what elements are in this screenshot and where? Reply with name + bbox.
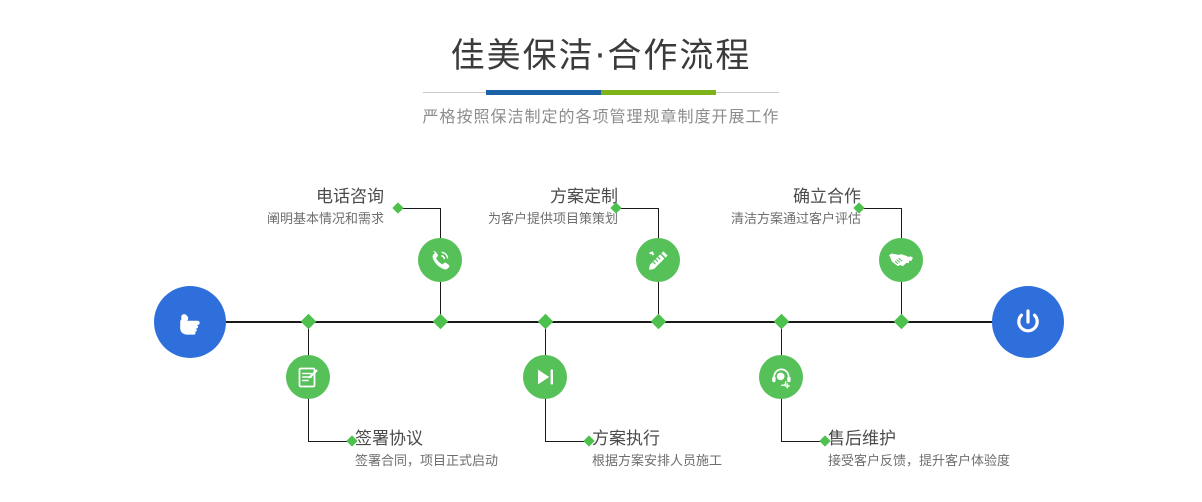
step-desc: 阐明基本情况和需求 <box>267 210 384 230</box>
support-headset-icon <box>769 365 794 390</box>
step-title: 签署协议 <box>355 428 498 450</box>
axis-marker-step-2 <box>301 314 317 330</box>
step-label-step-3: 方案定制 为客户提供项目策策划 <box>488 186 618 230</box>
pointing-hand-icon <box>170 302 210 342</box>
step-icon-step-4 <box>523 355 567 399</box>
step-label-step-6: 售后维护 接受客户反馈，提升客户体验度 <box>828 428 1010 472</box>
step-title: 方案定制 <box>488 186 618 208</box>
connector-h-step-4 <box>545 441 589 442</box>
step-title: 方案执行 <box>592 428 722 450</box>
step-desc: 为客户提供项目策策划 <box>488 210 618 230</box>
power-icon <box>1009 303 1047 341</box>
step-desc: 清洁方案通过客户评估 <box>731 210 861 230</box>
step-title: 售后维护 <box>828 428 1010 450</box>
connector-h-step-6 <box>781 441 825 442</box>
phone-call-icon <box>427 247 453 273</box>
step-label-step-5: 确立合作 清洁方案通过客户评估 <box>731 186 861 230</box>
timeline-end-endpoint <box>992 286 1064 358</box>
timeline-start-endpoint <box>154 286 226 358</box>
step-desc: 签署合同，项目正式启动 <box>355 452 498 472</box>
axis-marker-step-1 <box>433 314 449 330</box>
step-icon-step-3 <box>636 238 680 282</box>
process-timeline: 电话咨询 阐明基本情况和需求 签署协议 签署合同，项目正式启动 <box>0 0 1202 502</box>
step-desc: 接受客户反馈，提升客户体验度 <box>828 452 1010 472</box>
step-title: 电话咨询 <box>267 186 384 208</box>
step-icon-step-5 <box>879 238 923 282</box>
step-label-step-1: 电话咨询 阐明基本情况和需求 <box>267 186 384 230</box>
process-flow-page: 佳美保洁·合作流程 严格按照保洁制定的各项管理规章制度开展工作 <box>0 0 1202 502</box>
axis-marker-step-4 <box>538 314 554 330</box>
step-icon-step-6 <box>759 355 803 399</box>
pencil-ruler-icon <box>646 248 671 273</box>
connector-h-step-2 <box>308 441 352 442</box>
connector-h-step-1 <box>398 208 440 209</box>
connector-h-step-5 <box>859 208 901 209</box>
connector-tip-step-1 <box>392 202 403 213</box>
step-title: 确立合作 <box>731 186 861 208</box>
step-label-step-4: 方案执行 根据方案安排人员施工 <box>592 428 722 472</box>
step-icon-step-1 <box>418 238 462 282</box>
axis-marker-step-3 <box>651 314 667 330</box>
axis-marker-step-5 <box>894 314 910 330</box>
connector-h-step-3 <box>616 208 658 209</box>
play-execute-icon <box>533 365 557 389</box>
step-label-step-2: 签署协议 签署合同，项目正式启动 <box>355 428 498 472</box>
handshake-icon <box>888 247 914 273</box>
step-desc: 根据方案安排人员施工 <box>592 452 722 472</box>
step-icon-step-2 <box>286 355 330 399</box>
document-pen-icon <box>296 365 321 390</box>
axis-marker-step-6 <box>774 314 790 330</box>
